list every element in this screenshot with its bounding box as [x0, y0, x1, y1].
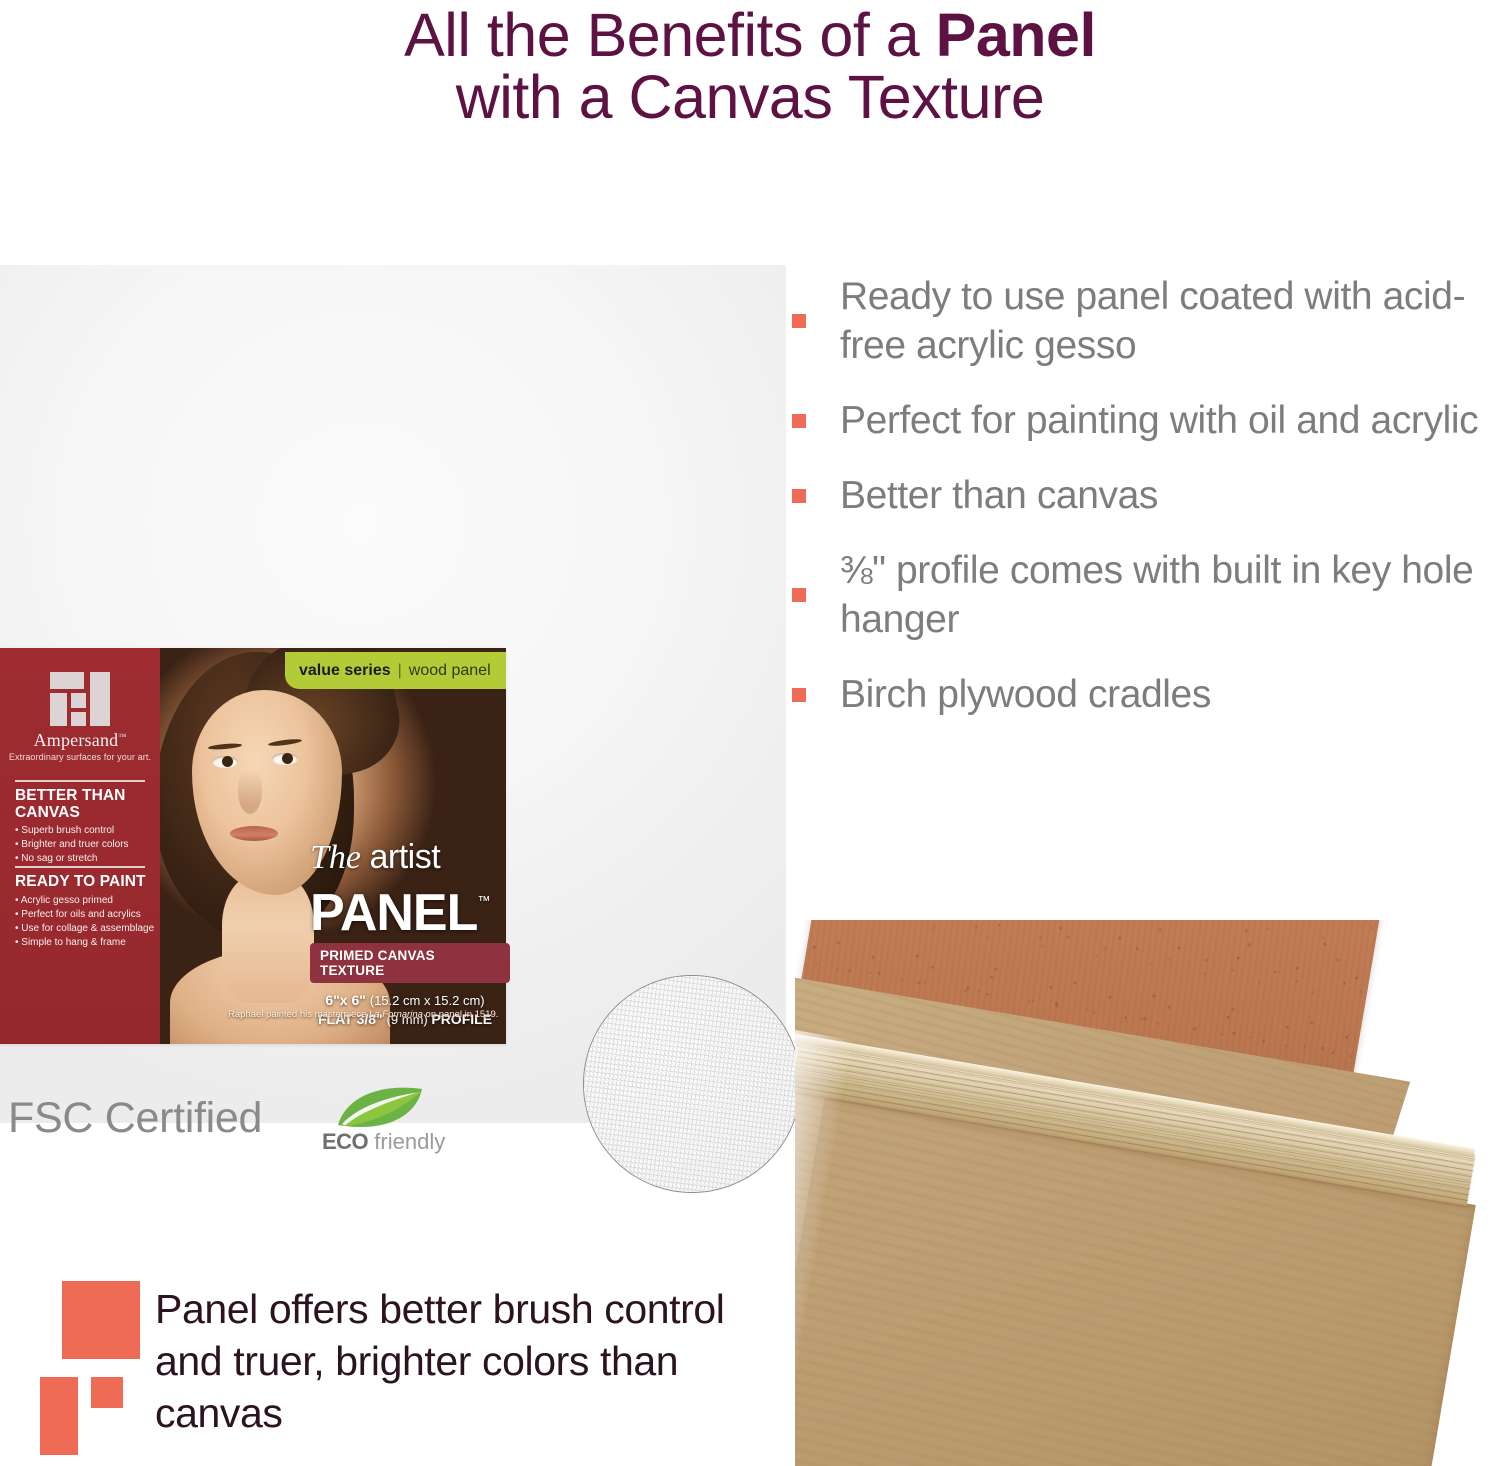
- panel-back-photo: [795, 920, 1500, 1466]
- portrait-lips: [230, 826, 278, 841]
- bullet-square-icon: [792, 588, 806, 602]
- bullet-square-icon: [792, 314, 806, 328]
- eco-friendly-text: ECO friendly: [322, 1129, 445, 1155]
- package-bullet: • Perfect for oils and acrylics: [15, 909, 141, 920]
- package-divider-1: [15, 780, 145, 782]
- package-bullet: • No sag or stretch: [15, 853, 97, 864]
- headline-emphasis: Panel: [936, 1, 1096, 69]
- brand-name: Ampersand™: [0, 730, 160, 751]
- list-item: Better than canvas: [792, 471, 1492, 520]
- list-item-label: Ready to use panel coated with acid-free…: [840, 272, 1492, 370]
- package-bullet: • Simple to hang & frame: [15, 937, 126, 948]
- fsc-certified-label: FSC Certified: [8, 1094, 262, 1143]
- bottom-caption: Panel offers better brush control and tr…: [155, 1283, 795, 1439]
- list-item: Birch plywood cradles: [792, 670, 1492, 719]
- canvas-texture-swatch-icon: [583, 975, 801, 1193]
- package-bullet: • Acrylic gesso primed: [15, 895, 113, 906]
- package-divider-2: [15, 866, 145, 868]
- package-footnote: Raphael painted his masterpiece La Forna…: [228, 1009, 518, 1020]
- wordmark-the-artist: The artist: [310, 838, 510, 877]
- headline-text-a: All the Benefits of a: [404, 1, 936, 69]
- list-item: ⅜" profile comes with built in key hole …: [792, 546, 1492, 644]
- wordmark-panel: PANEL™: [310, 877, 510, 937]
- panel-size-line: 6"x 6" (15.2 cm x 15.2 cm): [310, 991, 500, 1010]
- banner-separator: |: [398, 662, 402, 680]
- bullet-square-icon: [792, 414, 806, 428]
- eco-friendly-badge: ECO friendly: [322, 1087, 452, 1162]
- value-series-label: value series: [299, 662, 391, 680]
- benefits-list: Ready to use panel coated with acid-free…: [792, 272, 1492, 745]
- headline-line-2: with a Canvas Texture: [0, 66, 1500, 128]
- wood-panel-label: wood panel: [409, 662, 491, 680]
- headline-line-1: All the Benefits of a Panel: [0, 4, 1500, 66]
- portrait-nose: [238, 770, 262, 814]
- package-bullet: • Brighter and truer colors: [15, 839, 129, 850]
- leaf-icon: [332, 1087, 428, 1131]
- brand-tagline: Extraordinary surfaces for your art.: [0, 752, 160, 762]
- ampersand-mark-icon: [40, 1281, 152, 1429]
- portrait-iris-left: [222, 756, 233, 767]
- list-item-label: Perfect for painting with oil and acryli…: [840, 396, 1478, 445]
- list-item: Ready to use panel coated with acid-free…: [792, 272, 1492, 370]
- package-heading-ready-to-paint: READY TO PAINT: [15, 873, 146, 890]
- package-bullet: • Superb brush control: [15, 825, 114, 836]
- list-item-label: Birch plywood cradles: [840, 670, 1211, 719]
- package-red-panel: Ampersand™ Extraordinary surfaces for yo…: [0, 648, 160, 1044]
- ampersand-logo-icon: [50, 672, 110, 726]
- primed-canvas-texture-badge: PRIMED CANVAS TEXTURE: [310, 943, 510, 983]
- value-series-banner: value series | wood panel: [285, 652, 506, 689]
- list-item: Perfect for painting with oil and acryli…: [792, 396, 1492, 445]
- page-title: All the Benefits of a Panel with a Canva…: [0, 4, 1500, 128]
- artist-panel-wordmark: The artist PANEL™ PRIMED CANVAS TEXTURE …: [310, 838, 510, 1029]
- list-item-label: Better than canvas: [840, 471, 1158, 520]
- list-item-label: ⅜" profile comes with built in key hole …: [840, 546, 1492, 644]
- package-bullet: • Use for collage & assemblage: [15, 923, 154, 934]
- bullet-square-icon: [792, 688, 806, 702]
- package-heading-better-than-canvas: BETTER THAN CANVAS: [15, 787, 160, 821]
- bullet-square-icon: [792, 489, 806, 503]
- portrait-iris-right: [282, 753, 293, 764]
